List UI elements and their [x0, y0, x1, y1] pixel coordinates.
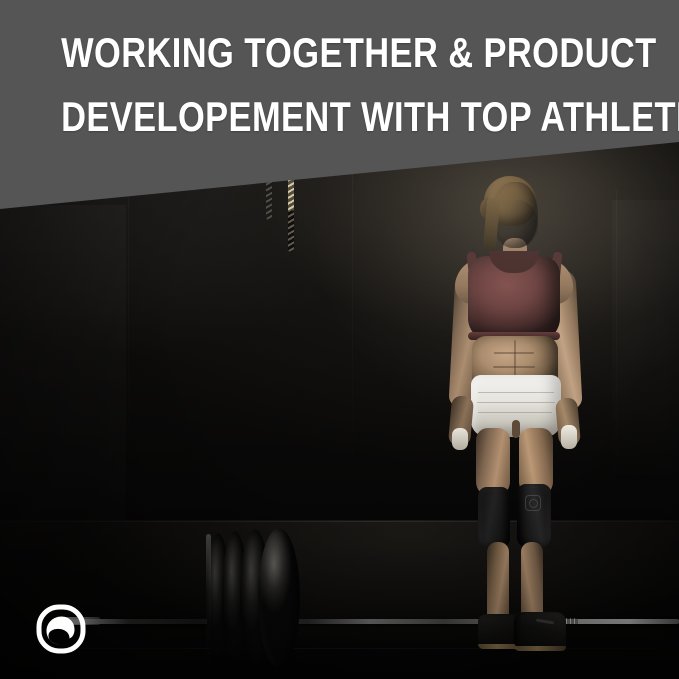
banner-title-line-2: DEVELOPEMENT WITH TOP ATHLETES: [61, 96, 618, 138]
knee-sleeve-logo-icon: [525, 495, 541, 511]
shorts-fold: [477, 402, 555, 403]
athlete-left-thigh: [476, 428, 510, 496]
knee-sleeve-left: [478, 487, 510, 549]
banner-title-line-1: WORKING TOGETHER & PRODUCT: [61, 32, 618, 74]
rehband-spiral-wave-logo-icon: [36, 604, 86, 654]
promotional-image: WORKING TOGETHER & PRODUCT DEVELOPEMENT …: [0, 0, 679, 679]
athlete-left-hand: [452, 428, 468, 450]
knee-sleeve-right: [517, 484, 551, 548]
athlete-left-calf: [487, 542, 509, 620]
shorts-fold: [478, 392, 554, 393]
ab-definition-line: [493, 366, 535, 368]
banner-title-block: WORKING TOGETHER & PRODUCT DEVELOPEMENT …: [0, 0, 679, 138]
athlete-face-shadow: [492, 200, 538, 248]
ab-definition-line: [494, 352, 534, 354]
athlete-right-hand: [561, 425, 577, 449]
shoe-sole-right: [514, 646, 566, 651]
athlete-right-calf: [521, 542, 543, 620]
shorts-fold: [478, 412, 552, 413]
